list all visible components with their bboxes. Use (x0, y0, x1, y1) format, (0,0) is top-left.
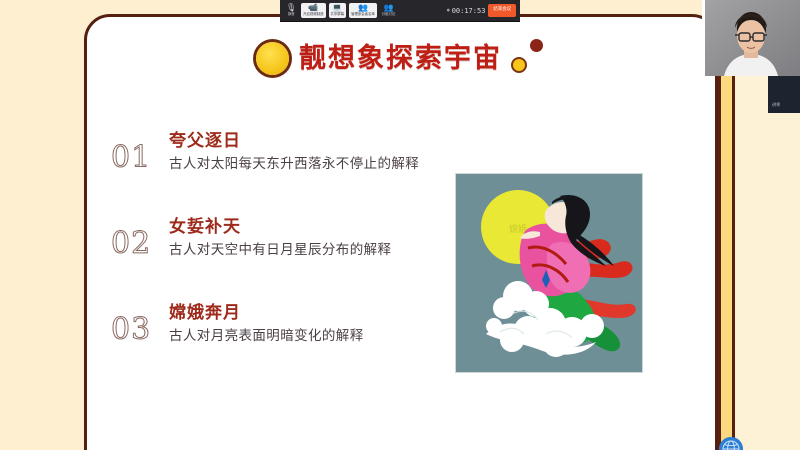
microphone-icon: 🎙 (286, 4, 296, 12)
webcam-feed[interactable] (702, 0, 800, 76)
list-item-number: 02 (107, 215, 169, 259)
toolbar-video-button[interactable]: 📹 开启视频制造 (301, 3, 325, 18)
end-meeting-button[interactable]: 结束会议 (488, 4, 516, 16)
toolbar-mute-button[interactable]: 🎙 静音 (284, 3, 298, 18)
title-decoration (512, 41, 546, 75)
group-icon: 👥 (384, 4, 394, 12)
toolbar-mute-label: 静音 (288, 13, 295, 17)
change-flying-to-moon-illustration: 嫦娥 (455, 173, 643, 373)
toolbar-video-label: 开启视频制造 (303, 13, 323, 17)
toolbar-breakout-rooms-label: 分组讨论 (382, 13, 396, 17)
participant-name-label: 讲师 (772, 102, 781, 108)
myth-list: 01 夸父逐日 古人对太阳每天东升西落永不停止的解释 02 女娎补天 古人对天空… (107, 129, 467, 387)
camera-icon: 📹 (308, 4, 318, 12)
list-item-number: 03 (107, 301, 169, 345)
meeting-timer-value: 00:17:53 (452, 7, 486, 15)
meeting-toolbar: 🎙 静音 📹 开启视频制造 💻 共享屏幕 👥 管理参会者名单 👥 分组讨论 ⏺ … (280, 0, 520, 22)
list-item-heading: 嫦娥奔月 (169, 303, 467, 323)
toolbar-participants-label: 管理参会者名单 (351, 13, 375, 17)
list-item-description: 古人对太阳每天东升西落永不停止的解释 (169, 155, 467, 173)
list-item-heading: 女娎补天 (169, 217, 467, 237)
list-item: 02 女娎补天 古人对天空中有日月星辰分布的解释 (107, 215, 467, 301)
page-title: 靓想象探索宇宙 (299, 45, 502, 72)
list-item: 01 夸父逐日 古人对太阳每天东升西落永不停止的解释 (107, 129, 467, 215)
list-item-description: 古人对天空中有日月星辰分布的解释 (169, 241, 467, 259)
webcam-left-edge (702, 0, 705, 76)
toolbar-breakout-rooms-button[interactable]: 👥 分组讨论 (380, 3, 398, 18)
screen-share-icon: 💻 (332, 4, 342, 12)
list-item-description: 古人对月亮表面明暗变化的解释 (169, 327, 467, 345)
toolbar-participants-button[interactable]: 👥 管理参会者名单 (349, 3, 377, 18)
participants-icon: 👥 (358, 4, 368, 12)
slide-title-row: 靓想象探索宇宙 (87, 41, 715, 75)
participant-name-panel: 讲师 (768, 76, 800, 113)
small-red-dot-icon (530, 39, 543, 52)
sun-circle-icon (256, 42, 289, 75)
toolbar-share-screen-button[interactable]: 💻 共享屏幕 (329, 3, 347, 18)
meeting-timer: ⏺ 00:17:53 (447, 7, 486, 15)
screen: 靓想象探索宇宙 01 夸父逐日 古人对太阳每天东升西落永不停止的解释 02 女娎… (0, 0, 800, 450)
list-item-heading: 夸父逐日 (169, 131, 467, 151)
slide-card: 靓想象探索宇宙 01 夸父逐日 古人对太阳每天东升西落永不停止的解释 02 女娎… (84, 14, 718, 450)
list-item-number: 01 (107, 129, 169, 173)
list-item: 03 嫦娥奔月 古人对月亮表面明暗变化的解释 (107, 301, 467, 387)
small-yellow-dot-icon (513, 59, 525, 71)
toolbar-share-screen-label: 共享屏幕 (331, 13, 345, 17)
record-icon: ⏺ (447, 7, 450, 15)
